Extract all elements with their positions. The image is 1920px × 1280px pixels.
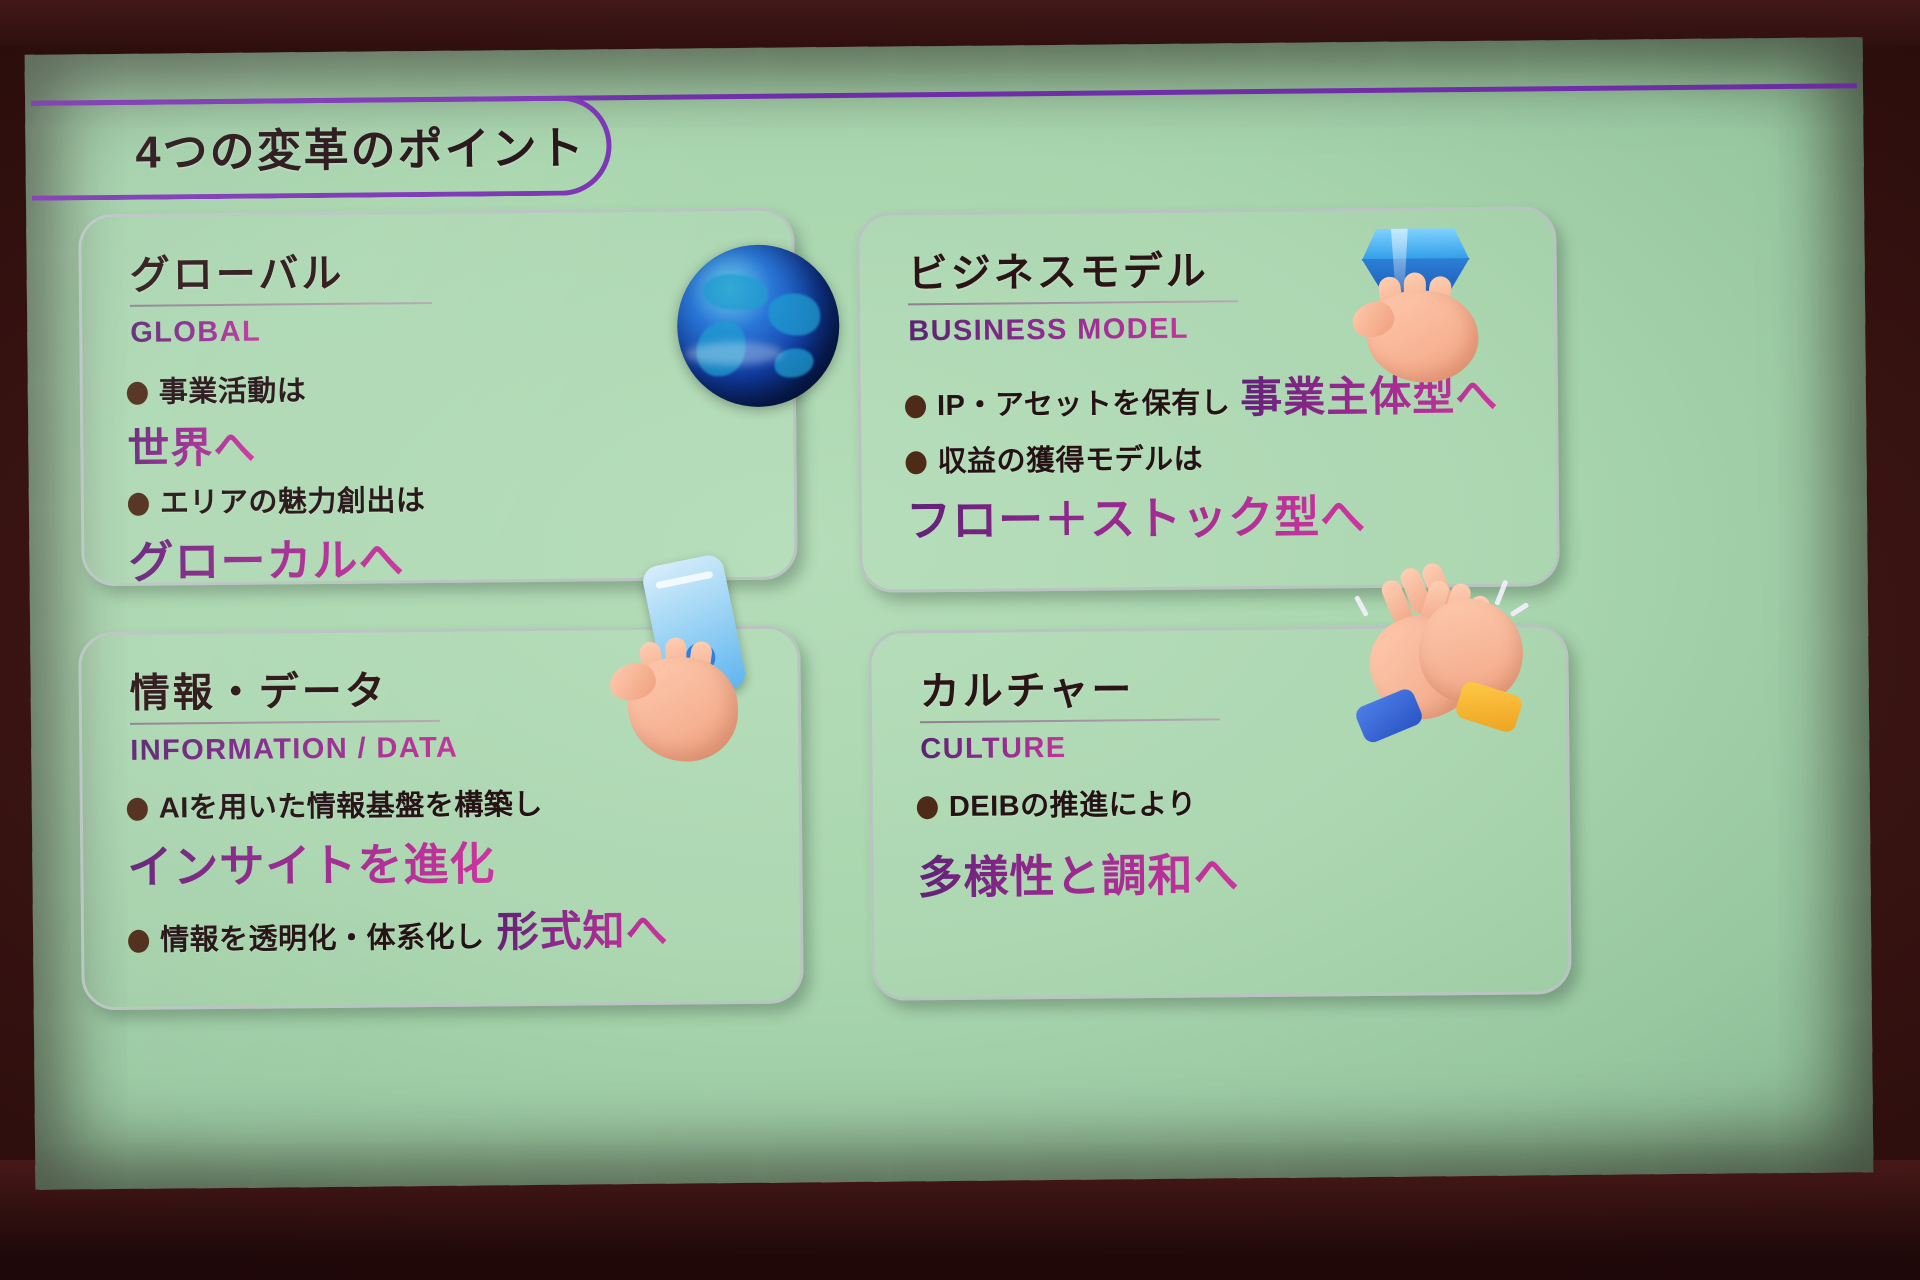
list-item: 情報を透明化・体系化し 形式知へ (128, 896, 781, 963)
accent-phrase: フロー＋ストック型へ (906, 480, 1367, 549)
card-culture-bullets: DEIBの推進により 多様性と調和へ (917, 777, 1548, 910)
accent-row: グローカルへ (128, 520, 775, 591)
list-item: 収益の獲得モデルは (905, 432, 1535, 480)
card-culture-en-title: CULTURE (920, 732, 1067, 766)
card-culture-divider (920, 718, 1220, 723)
bullet-dot-icon (127, 382, 148, 405)
card-info-bullets: AIを用いた情報基盤を構築し インサイトを進化 情報を透明化・体系化し 形式知へ (127, 779, 781, 967)
accent-phrase: 多様性と調和へ (917, 838, 1240, 906)
card-information-data[interactable]: 情報・データ INFORMATION / DATA AIを用いた情報基盤を構築し… (78, 625, 804, 1010)
card-business-en-title: BUSINESS MODEL (908, 313, 1189, 349)
list-item: エリアの魅力創出は (128, 474, 774, 522)
accent-row: 多様性と調和へ (917, 835, 1548, 906)
bullet-dot-icon (917, 796, 938, 819)
card-info-en-title: INFORMATION / DATA (130, 732, 458, 768)
card-business-divider (908, 300, 1238, 305)
bullet-text: 情報を透明化・体系化し (160, 913, 485, 958)
list-item: 事業活動は (127, 363, 773, 411)
card-business-bullets: IP・アセットを保有し 事業主体型へ 収益の獲得モデルは フロー＋ストック型へ (905, 361, 1537, 553)
list-item: AIを用いた情報基盤を構築し (127, 779, 779, 827)
bullet-text: IP・アセットを保有し (937, 379, 1231, 424)
card-culture-jp-title: カルチャー (919, 657, 1134, 717)
bullet-dot-icon (127, 798, 148, 821)
presentation-room-photo: 4つの変革のポイント グローバル GLOBAL 事業活動は 世界へ (0, 0, 1920, 1280)
accent-phrase: インサイトを進化 (127, 827, 496, 896)
card-global-divider (130, 302, 432, 307)
clapping-hands-icon (1349, 577, 1571, 789)
bullet-dot-icon (128, 930, 149, 953)
accent-phrase: 事業主体型へ (1240, 362, 1499, 425)
bullet-text: 事業活動は (159, 367, 307, 410)
hand-holding-phone-icon (600, 558, 802, 790)
card-business-model[interactable]: ビジネスモデル BUSINESS MODEL IP・アセットを保有し 事業主体型… (856, 206, 1560, 593)
projection-screen: 4つの変革のポイント グローバル GLOBAL 事業活動は 世界へ (25, 37, 1874, 1190)
card-global-bullets: 事業活動は 世界へ エリアの魅力創出は グローカルへ (127, 363, 775, 595)
bullet-text: エリアの魅力創出は (160, 477, 426, 522)
card-global-jp-title: グローバル (129, 241, 344, 301)
card-global-en-title: GLOBAL (130, 316, 261, 350)
card-info-divider (130, 720, 440, 725)
card-culture[interactable]: カルチャー CULTURE DEIBの推進により 多様性と調和へ (868, 624, 1572, 1001)
slide-canvas: 4つの変革のポイント グローバル GLOBAL 事業活動は 世界へ (25, 37, 1874, 1190)
page-title: 4つの変革のポイント (135, 111, 586, 180)
bullet-text: DEIBの推進により (949, 781, 1197, 825)
accent-phrase: 世界へ (127, 414, 257, 476)
list-item: DEIBの推進により (917, 777, 1547, 825)
bullet-dot-icon (128, 493, 149, 516)
bullet-text: AIを用いた情報基盤を構築し (159, 781, 543, 827)
card-business-jp-title: ビジネスモデル (907, 238, 1209, 299)
accent-phrase: グローカルへ (128, 523, 405, 591)
list-item: IP・アセットを保有し 事業主体型へ (905, 361, 1536, 428)
accent-row: インサイトを進化 (127, 825, 780, 896)
card-info-jp-title: 情報・データ (129, 658, 388, 718)
accent-row: フロー＋ストック型へ (906, 478, 1537, 549)
card-global[interactable]: グローバル GLOBAL 事業活動は 世界へ エリアの魅力創出は (78, 207, 798, 586)
bullet-dot-icon (905, 451, 926, 474)
accent-row: 世界へ (127, 409, 774, 476)
bullet-dot-icon (905, 395, 926, 418)
accent-phrase: 形式知へ (496, 897, 669, 960)
bullet-text: 収益の獲得モデルは (937, 436, 1203, 481)
